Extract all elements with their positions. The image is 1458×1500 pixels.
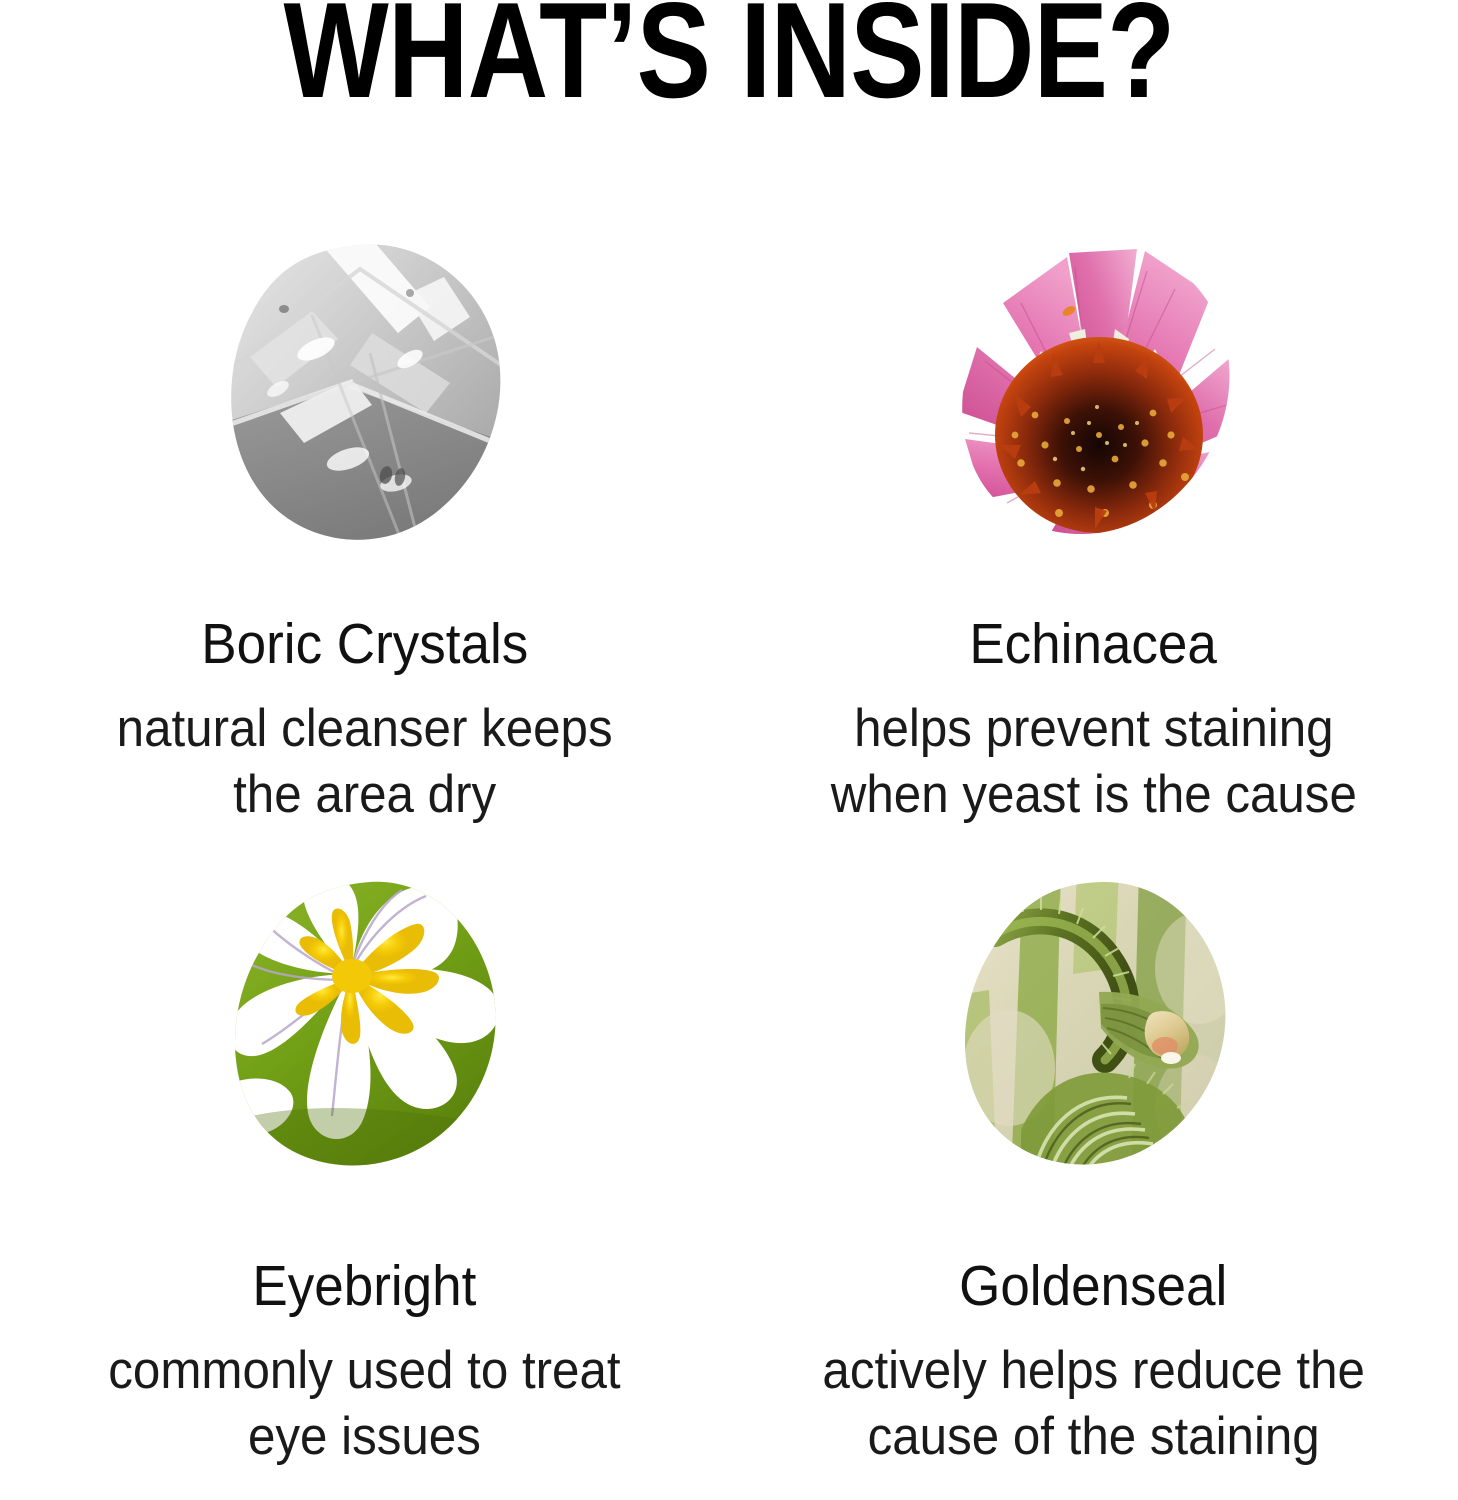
echinacea-image [944, 232, 1244, 552]
ingredient-description: helps prevent staining when yeast is the… [830, 696, 1356, 828]
description-line-1: natural cleanser keeps [117, 696, 613, 762]
description-line-2: eye issues [108, 1404, 620, 1470]
goldenseal-image [944, 868, 1244, 1188]
eyebright-flower-icon [220, 878, 510, 1178]
ingredient-grid: Boric Crystals natural cleanser keeps th… [0, 200, 1458, 1500]
ingredient-name: Echinacea [970, 614, 1218, 674]
description-line-2: when yeast is the cause [830, 762, 1356, 828]
ingredient-description: commonly used to treat eye issues [108, 1338, 620, 1470]
description-line-2: cause of the staining [822, 1404, 1365, 1470]
eyebright-image [215, 868, 515, 1188]
crystal-photo-icon [220, 237, 510, 547]
ingredient-card-echinacea: Echinacea helps prevent staining when ye… [729, 200, 1458, 860]
ingredient-card-eyebright: Eyebright commonly used to treat eye iss… [0, 860, 729, 1500]
description-line-1: helps prevent staining [830, 696, 1356, 762]
ingredient-name: Goldenseal [959, 1256, 1227, 1316]
description-line-1: commonly used to treat [108, 1338, 620, 1404]
ingredient-name: Boric Crystals [201, 614, 528, 674]
boric-crystals-image [215, 232, 515, 552]
description-line-1: actively helps reduce the [822, 1338, 1365, 1404]
ingredient-name: Eyebright [253, 1256, 477, 1316]
ingredient-description: actively helps reduce the cause of the s… [822, 1338, 1365, 1470]
description-line-2: the area dry [117, 762, 613, 828]
ingredient-card-boric-crystals: Boric Crystals natural cleanser keeps th… [0, 200, 729, 860]
page-title: WHAT’S INSIDE? [131, 0, 1327, 118]
whats-inside-infographic: WHAT’S INSIDE? [0, 0, 1458, 1500]
ingredient-card-goldenseal: Goldenseal actively helps reduce the cau… [729, 860, 1458, 1500]
echinacea-flower-icon [949, 237, 1239, 547]
goldenseal-plant-icon [949, 878, 1239, 1178]
ingredient-description: natural cleanser keeps the area dry [117, 696, 613, 828]
